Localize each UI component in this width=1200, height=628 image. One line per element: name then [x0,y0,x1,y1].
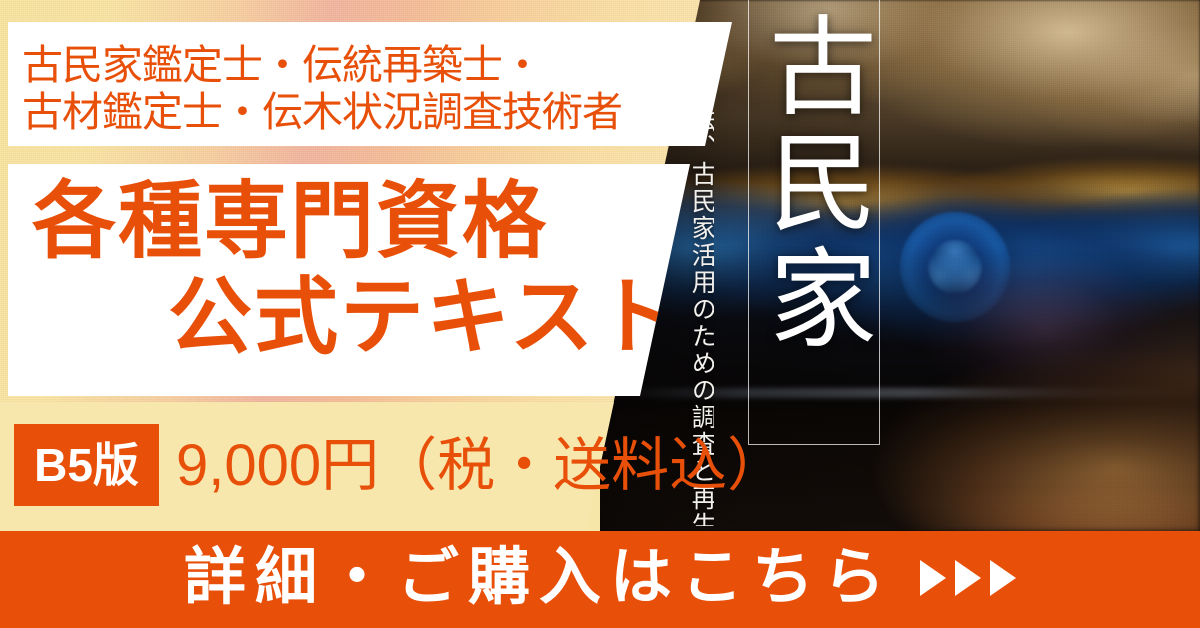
size-badge-label: B5版 [34,442,139,488]
certifications-box: 古民家鑑定士・伝統再築士・ 古材鑑定士・伝木状況調査技術者 [8,22,732,146]
cta-content: 詳細・ご購入はこちら [184,547,1016,609]
price-text: 9,000円（税・送料込） [176,428,785,503]
cover-title: 古民家 [750,10,876,358]
cta-label: 詳細・ご購入はこちら [184,547,894,609]
promo-banner: 古民家 伝統構法、古民家活用のための調査と再生の 古民家鑑定士・伝統再築士・ 古… [0,0,1200,628]
size-badge: B5版 [14,424,159,506]
play-arrow-icon [955,560,981,596]
headline-line-2: 公式テキスト [168,268,681,367]
headline-box: 各種専門資格 公式テキスト [8,164,690,396]
cta-arrows [920,560,1016,596]
play-arrow-icon [920,560,946,596]
headline-line-1: 各種専門資格 [32,172,548,271]
cta-bar[interactable]: 詳細・ご購入はこちら [0,531,1200,628]
play-arrow-icon [990,560,1016,596]
certifications-text: 古民家鑑定士・伝統再築士・ 古材鑑定士・伝木状況調査技術者 [22,42,722,135]
